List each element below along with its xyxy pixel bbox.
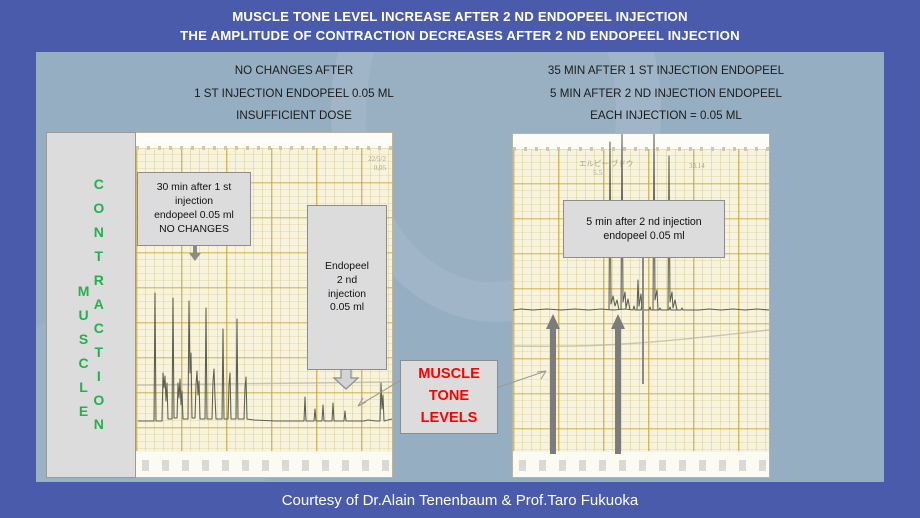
right-emg-chart: エルピー ブドウ 5.5 33.14 xyxy=(512,133,770,478)
title-line-1: MUSCLE TONE LEVEL INCREASE AFTER 2 ND EN… xyxy=(232,7,688,26)
axis-letter: N xyxy=(94,412,104,436)
axis-letter: E xyxy=(79,399,88,423)
axis-letter: I xyxy=(97,364,101,388)
slide-title: MUSCLE TONE LEVEL INCREASE AFTER 2 ND EN… xyxy=(0,0,920,52)
callout-endopeel-2nd-injection: Endopeel 2 nd injection 0.05 ml xyxy=(307,205,387,370)
axis-letter: R xyxy=(94,268,104,292)
connector-line-right-callout xyxy=(642,256,644,384)
pointer-line-right xyxy=(494,368,548,392)
injection-marker-arrow-2 xyxy=(610,314,626,454)
callout-mid-line-2: 2 nd xyxy=(337,274,357,288)
axis-letter: N xyxy=(94,220,104,244)
axis-letter: T xyxy=(95,340,104,364)
callout-right-line-2: endopeel 0.05 ml xyxy=(603,229,684,243)
right-header-line-1: 35 MIN AFTER 1 ST INJECTION ENDOPEEL xyxy=(491,60,841,83)
callout-left-30min: 30 min after 1 st injection endopeel 0.0… xyxy=(137,172,251,246)
down-arrow-icon-observation xyxy=(188,244,202,262)
callout-mid-line-3: injection xyxy=(328,288,366,302)
callout-left-line-3: endopeel 0.05 ml xyxy=(154,209,234,223)
title-line-2: THE AMPLITUDE OF CONTRACTION DECREASES A… xyxy=(180,26,740,45)
axis-letter: A xyxy=(94,292,104,316)
axis-letter: C xyxy=(94,316,104,340)
callout-left-line-1: 30 min after 1 st xyxy=(157,181,232,195)
axis-letter: L xyxy=(79,375,88,399)
callout-muscle-tone-levels: MUSCLE TONE LEVELS xyxy=(400,360,498,434)
axis-letter: C xyxy=(94,172,104,196)
slide: MUSCLE TONE LEVEL INCREASE AFTER 2 ND EN… xyxy=(0,0,920,518)
callout-mid-line-1: Endopeel xyxy=(325,260,369,274)
axis-letter: M xyxy=(78,279,90,303)
handwriting-note-2: 33.14 xyxy=(689,162,705,171)
callout-mid-line-4: 0.05 ml xyxy=(330,301,364,315)
red-callout-line-3: LEVELS xyxy=(421,408,478,430)
callout-right-line-1: 5 min after 2 nd injection xyxy=(586,215,701,229)
red-callout-line-1: MUSCLE xyxy=(418,364,480,386)
pointer-line-left xyxy=(352,378,402,412)
muscle-contraction-axis-label: M U S C L E C O N T R A C T I O N xyxy=(46,132,136,478)
footer-credit: Courtesy of Dr.Alain Tenenbaum & Prof.Ta… xyxy=(0,482,920,518)
axis-letter: O xyxy=(93,388,104,412)
right-chart-header: 35 MIN AFTER 1 ST INJECTION ENDOPEEL 5 M… xyxy=(491,60,841,128)
left-header-line-1: NO CHANGES AFTER xyxy=(144,60,444,83)
red-callout-line-2: TONE xyxy=(429,386,469,408)
axis-letter: S xyxy=(79,327,88,351)
right-header-line-3: EACH INJECTION = 0.05 ML xyxy=(491,105,841,128)
handwriting-note: 22/5/2 0,05 xyxy=(368,155,386,173)
right-header-line-2: 5 MIN AFTER 2 ND INJECTION ENDOPEEL xyxy=(491,83,841,106)
callout-left-line-4: NO CHANGES xyxy=(159,223,229,237)
footer-text: Courtesy of Dr.Alain Tenenbaum & Prof.Ta… xyxy=(282,492,639,509)
axis-label-contraction: C O N T R A C T I O N xyxy=(93,172,104,439)
axis-label-muscle: M U S C L E xyxy=(78,187,90,423)
left-header-line-2: 1 ST INJECTION ENDOPEEL 0.05 ML xyxy=(144,83,444,106)
axis-letter: T xyxy=(95,244,104,268)
left-header-line-3: INSUFFICIENT DOSE xyxy=(144,105,444,128)
axis-letter: C xyxy=(78,351,88,375)
handwriting-note: エルピー ブドウ 5.5 xyxy=(579,159,633,178)
callout-right-5min: 5 min after 2 nd injection endopeel 0.05… xyxy=(563,200,725,258)
callout-left-line-2: injection xyxy=(175,195,213,209)
left-chart-header: NO CHANGES AFTER 1 ST INJECTION ENDOPEEL… xyxy=(144,60,444,128)
axis-letter: O xyxy=(93,196,104,220)
axis-letter: U xyxy=(78,303,88,327)
